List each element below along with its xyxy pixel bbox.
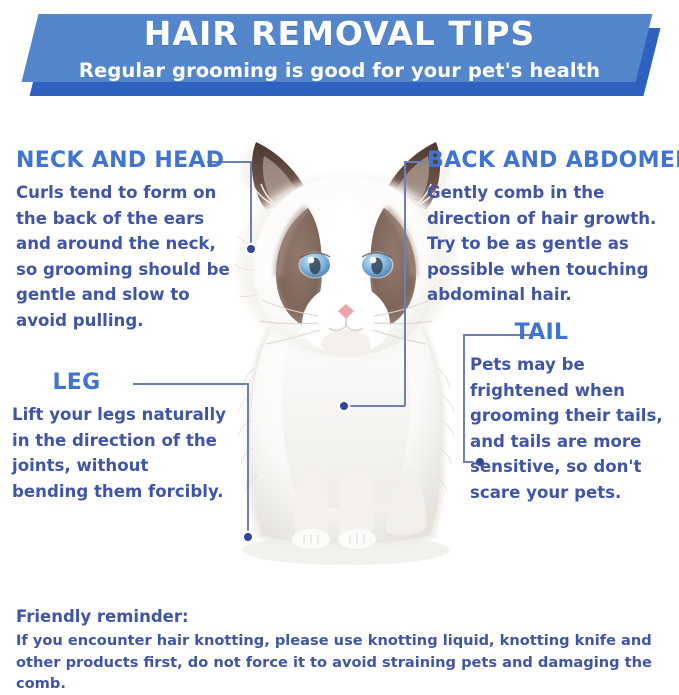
connector-tail-vertical xyxy=(463,334,465,462)
friendly-reminder: Friendly reminder: If you encounter hair… xyxy=(16,605,666,695)
callout-title-leg: LEG xyxy=(12,370,227,396)
friendly-reminder-body: If you encounter hair knotting, please u… xyxy=(16,630,666,695)
callout-body-back-and-abdomen: Gently comb in the direction of hair gro… xyxy=(427,180,675,308)
banner-text-group: HAIR REMOVAL TIPS Regular grooming is go… xyxy=(0,12,679,86)
connector-leg-vertical xyxy=(247,383,249,537)
callout-body-tail: Pets may be frightened when grooming the… xyxy=(470,352,675,505)
connector-neck-vertical xyxy=(250,161,252,249)
callout-back-and-abdomen: BACK AND ABDOMEN Gently comb in the dire… xyxy=(427,148,675,308)
callout-tail: TAIL Pets may be frightened when groomin… xyxy=(470,320,675,505)
callout-title-tail: TAIL xyxy=(470,320,675,346)
page-subtitle: Regular grooming is good for your pet's … xyxy=(0,56,679,86)
connector-dot-leg xyxy=(244,533,252,541)
connector-dot-neck xyxy=(247,245,255,253)
callout-body-leg: Lift your legs naturally in the directio… xyxy=(12,402,227,504)
page-title: HAIR REMOVAL TIPS xyxy=(0,12,679,56)
callout-neck-and-head: NECK AND HEAD Curls tend to form on the … xyxy=(16,148,231,333)
header-banner: HAIR REMOVAL TIPS Regular grooming is go… xyxy=(0,0,679,112)
callout-leg: LEG Lift your legs naturally in the dire… xyxy=(12,370,227,504)
connector-back-horizontal-bot xyxy=(345,405,405,407)
connector-back-horizontal-top xyxy=(404,161,424,163)
connector-dot-back xyxy=(340,402,348,410)
callout-title-back-and-abdomen: BACK AND ABDOMEN xyxy=(427,148,675,174)
cat-head xyxy=(234,142,458,358)
friendly-reminder-heading: Friendly reminder: xyxy=(16,605,666,629)
callout-body-neck-and-head: Curls tend to form on the back of the ea… xyxy=(16,180,231,333)
connector-back-vertical xyxy=(404,161,406,406)
callout-title-neck-and-head: NECK AND HEAD xyxy=(16,148,231,174)
